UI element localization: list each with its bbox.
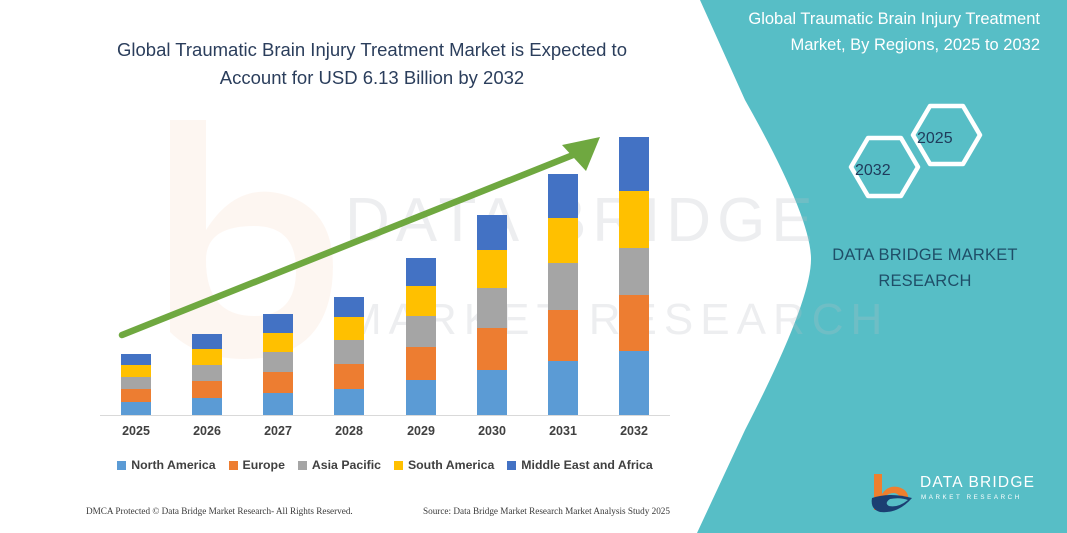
legend-item[interactable]: Asia Pacific	[298, 458, 381, 472]
bar-segment	[263, 393, 293, 416]
data-bridge-logo: DATA BRIDGE MARKET RESEARCH	[868, 472, 1048, 518]
chart-legend: North AmericaEuropeAsia PacificSouth Ame…	[100, 456, 670, 474]
legend-label: Middle East and Africa	[521, 458, 652, 472]
legend-item[interactable]: Middle East and Africa	[507, 458, 652, 472]
x-axis-label-2031: 2031	[533, 424, 593, 438]
logo-name-main: DATA BRIDGE	[920, 474, 1035, 492]
bar-segment	[192, 398, 222, 416]
chart-title: Global Traumatic Brain Injury Treatment …	[88, 36, 656, 92]
x-axis-label-2027: 2027	[248, 424, 308, 438]
bar-2025	[121, 354, 151, 416]
bar-segment	[121, 389, 151, 402]
footer-copyright: DMCA Protected © Data Bridge Market Rese…	[86, 506, 353, 516]
bar-segment	[192, 365, 222, 381]
legend-item[interactable]: Europe	[229, 458, 285, 472]
bar-segment	[192, 349, 222, 365]
hexagon-group: 2025 2032	[820, 100, 1000, 210]
footer-source: Source: Data Bridge Market Research Mark…	[423, 506, 670, 516]
legend-item[interactable]: North America	[117, 458, 215, 472]
hexagon-2025-label: 2025	[917, 130, 953, 148]
x-axis-labels: 20252026202720282029203020312032	[100, 424, 670, 444]
bar-segment	[406, 380, 436, 416]
bar-segment	[619, 191, 649, 248]
bar-segment	[192, 381, 222, 398]
legend-label: North America	[131, 458, 215, 472]
legend-item[interactable]: South America	[394, 458, 494, 472]
bar-segment	[619, 137, 649, 191]
legend-swatch-icon	[394, 461, 403, 470]
growth-trend-arrow	[100, 125, 620, 350]
panel-title: Global Traumatic Brain Injury Treatment …	[740, 6, 1040, 58]
bar-segment	[619, 248, 649, 295]
x-axis-label-2032: 2032	[604, 424, 664, 438]
logo-name-sub: MARKET RESEARCH	[921, 494, 1022, 501]
bar-segment	[406, 347, 436, 380]
bar-segment	[619, 295, 649, 351]
hexagon-2032-label: 2032	[855, 162, 891, 180]
legend-swatch-icon	[507, 461, 516, 470]
legend-swatch-icon	[117, 461, 126, 470]
bar-segment	[548, 361, 578, 416]
logo-mark-icon	[868, 472, 918, 516]
bar-segment	[334, 389, 364, 416]
legend-label: Asia Pacific	[312, 458, 381, 472]
x-axis-label-2029: 2029	[391, 424, 451, 438]
bar-segment	[334, 364, 364, 389]
legend-swatch-icon	[298, 461, 307, 470]
bar-segment	[121, 354, 151, 365]
footer: DMCA Protected © Data Bridge Market Rese…	[86, 506, 670, 522]
bar-segment	[263, 372, 293, 393]
infographic-canvas: DATA BRIDGE MARKET RESEARCH Global Traum…	[0, 0, 1067, 533]
x-axis-label-2028: 2028	[319, 424, 379, 438]
bar-segment	[263, 352, 293, 372]
bar-segment	[619, 351, 649, 416]
bar-segment	[121, 402, 151, 416]
x-axis-label-2025: 2025	[106, 424, 166, 438]
x-axis-line	[100, 415, 670, 416]
x-axis-label-2026: 2026	[177, 424, 237, 438]
legend-swatch-icon	[229, 461, 238, 470]
bar-segment	[121, 377, 151, 389]
x-axis-label-2030: 2030	[462, 424, 522, 438]
bar-2032	[619, 137, 649, 416]
hexagon-outlines	[820, 100, 1000, 210]
bar-segment	[121, 365, 151, 377]
legend-label: Europe	[243, 458, 285, 472]
legend-label: South America	[408, 458, 494, 472]
bar-segment	[477, 370, 507, 416]
panel-brand-text: DATA BRIDGE MARKET RESEARCH	[800, 242, 1050, 294]
